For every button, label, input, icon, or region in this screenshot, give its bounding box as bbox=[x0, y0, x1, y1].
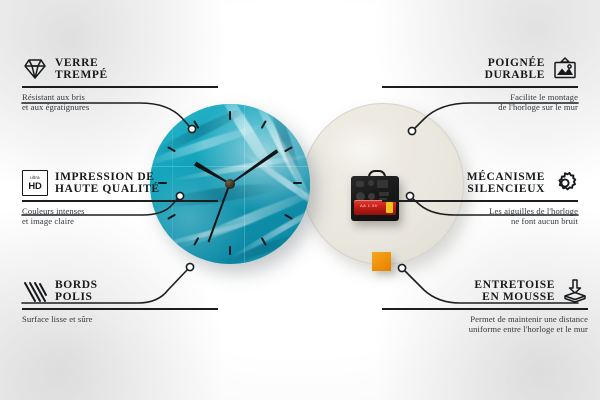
feature-title-line1: BORDS bbox=[55, 279, 98, 292]
polished-edges-icon bbox=[22, 278, 48, 304]
foam-spacer-arrow-icon bbox=[562, 278, 588, 304]
feature-title-line1: VERRE bbox=[55, 57, 108, 70]
feature-title-line1: POIGNÉE bbox=[485, 57, 545, 70]
feature-divider bbox=[382, 308, 588, 310]
feature-entretoise-en-mousse[interactable]: ENTRETOISE EN MOUSSE Permet de maintenir… bbox=[382, 278, 588, 334]
feature-desc-line1: Surface lisse et sûre bbox=[22, 314, 218, 324]
feature-desc-line2: uniforme entre l'horloge et le mur bbox=[382, 324, 588, 334]
feature-divider bbox=[382, 200, 578, 202]
feature-title-line2: SILENCIEUX bbox=[467, 183, 545, 196]
ultra-hd-icon-main-text: HD bbox=[28, 181, 41, 190]
feature-impression-haute-qualite[interactable]: ultra HD IMPRESSION DE HAUTE QUALITÉ Cou… bbox=[22, 170, 218, 226]
feature-desc-line2: ne font aucun bruit bbox=[382, 216, 578, 226]
feature-title-line2: POLIS bbox=[55, 291, 98, 304]
picture-frame-hanging-icon bbox=[552, 56, 578, 82]
feature-divider bbox=[382, 86, 578, 88]
foam-spacer bbox=[372, 252, 391, 271]
feature-divider bbox=[22, 86, 218, 88]
ultra-hd-icon: ultra HD bbox=[22, 170, 48, 196]
feature-title-line1: IMPRESSION DE bbox=[55, 171, 160, 184]
clock-center-cap bbox=[225, 179, 235, 189]
feature-divider bbox=[22, 308, 218, 310]
feature-desc-line2: et aux égratignures bbox=[22, 102, 218, 112]
feature-divider bbox=[22, 200, 218, 202]
battery-label: AA 1.5V bbox=[360, 203, 378, 208]
feature-title-line2: HAUTE QUALITÉ bbox=[55, 183, 160, 196]
feature-title-line2: EN MOUSSE bbox=[474, 291, 555, 304]
feature-bords-polis[interactable]: BORDS POLIS Surface lisse et sûre bbox=[22, 278, 218, 324]
diamond-icon bbox=[22, 56, 48, 82]
infographic-stage: AA 1.5V bbox=[0, 0, 600, 400]
feature-desc-line1: Couleurs intenses bbox=[22, 206, 218, 216]
feature-poignee-durable[interactable]: POIGNÉE DURABLE Facilite le montage de l… bbox=[382, 56, 578, 112]
feature-title-line2: DURABLE bbox=[485, 69, 545, 82]
feature-desc-line2: et image claire bbox=[22, 216, 218, 226]
feature-title-line2: TREMPÉ bbox=[55, 69, 108, 82]
feature-mecanisme-silencieux[interactable]: MÉCANISME SILENCIEUX Les aiguilles de l'… bbox=[382, 170, 578, 226]
feature-desc-line1: Les aiguilles de l'horloge bbox=[382, 206, 578, 216]
feature-desc-line1: Permet de maintenir une distance bbox=[382, 314, 588, 324]
feature-desc-line2: de l'horloge sur le mur bbox=[382, 102, 578, 112]
feature-title-line1: ENTRETOISE bbox=[474, 279, 555, 292]
feature-desc-line1: Facilite le montage bbox=[382, 92, 578, 102]
gear-icon bbox=[552, 170, 578, 196]
feature-title-line1: MÉCANISME bbox=[467, 171, 545, 184]
feature-verre-trempe[interactable]: VERRE TREMPÉ Résistant aux bris et aux é… bbox=[22, 56, 218, 112]
feature-desc-line1: Résistant aux bris bbox=[22, 92, 218, 102]
